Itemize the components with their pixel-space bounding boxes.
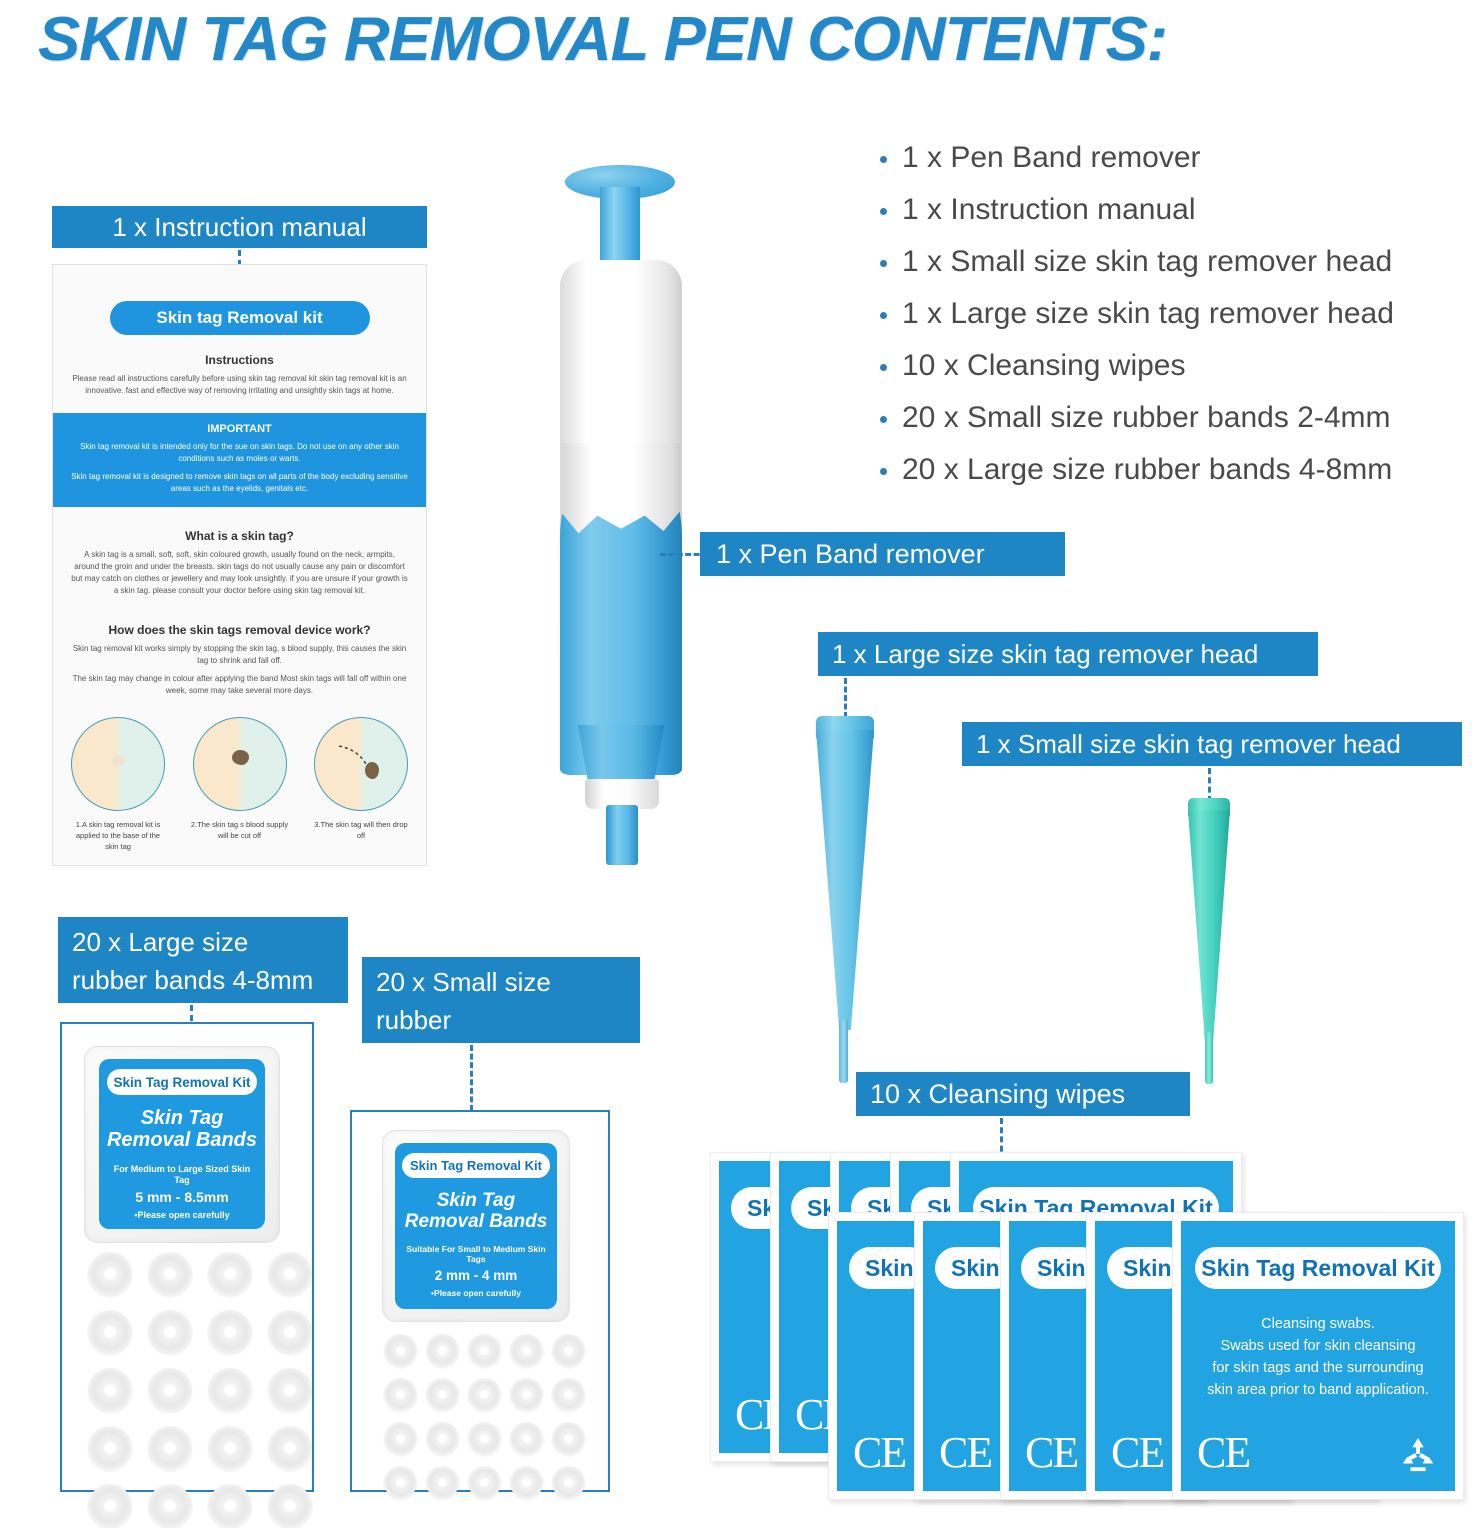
step-illustration-1 — [71, 717, 165, 811]
callout-pen-band-remover: 1 x Pen Band remover — [700, 532, 1065, 576]
rubber-band-ring — [148, 1426, 192, 1470]
large-bands-label-title: Skin Tag Removal Bands — [105, 1107, 259, 1152]
ce-mark-icon: CE — [853, 1431, 905, 1475]
manual-how-body-1: Skin tag removal kit works simply by sto… — [71, 643, 408, 667]
rubber-band-ring — [88, 1426, 132, 1470]
rubber-band-ring — [208, 1484, 252, 1528]
pen-taper — [576, 725, 666, 785]
instruction-manual-card: Skin tag Removal kit Instructions Please… — [52, 264, 427, 866]
callout-large-remover-head: 1 x Large size skin tag remover head — [818, 632, 1318, 676]
large-bands-case: Skin Tag Removal Kit Skin Tag Removal Ba… — [84, 1046, 280, 1243]
manual-instructions-body: Please read all instructions carefully b… — [71, 373, 408, 397]
list-item: 10 x Cleansing wipes — [876, 340, 1472, 392]
rubber-band-ring — [384, 1466, 417, 1499]
rubber-band-ring — [468, 1466, 501, 1499]
large-bands-label-size: 5 mm - 8.5mm — [105, 1189, 259, 1207]
rubber-band-ring — [148, 1484, 192, 1528]
rubber-band-ring — [208, 1310, 252, 1354]
manual-title-pill: Skin tag Removal kit — [110, 301, 370, 335]
rubber-band-ring — [88, 1368, 132, 1412]
recycle-icon — [1399, 1435, 1437, 1473]
rubber-band-ring — [426, 1466, 459, 1499]
step-illustration-2 — [193, 717, 287, 811]
large-bands-frame: Skin Tag Removal Kit Skin Tag Removal Ba… — [60, 1022, 314, 1492]
pen-nozzle — [606, 805, 638, 865]
large-bands-ring-grid — [88, 1252, 312, 1528]
large-bands-label: Skin Tag Removal Kit Skin Tag Removal Ba… — [99, 1059, 265, 1229]
manual-step-2: 2.The skin tag s blood supply will be cu… — [191, 717, 289, 852]
rubber-band-ring — [268, 1484, 312, 1528]
manual-step-3: 3.The skin tag will then drop off — [312, 717, 410, 852]
cleansing-wipe-face: Skin Tag Removal KitCleansing swabs. Swa… — [1181, 1221, 1455, 1491]
contents-list: 1 x Pen Band remover 1 x Instruction man… — [836, 132, 1472, 496]
rubber-band-ring — [384, 1334, 417, 1367]
manual-step-caption: 2.The skin tag s blood supply will be cu… — [191, 819, 289, 841]
manual-important-body-2: Skin tag removal kit is designed to remo… — [71, 471, 408, 495]
rubber-band-ring — [510, 1422, 543, 1455]
small-bands-label-title: Skin Tag Removal Bands — [400, 1190, 552, 1233]
manual-steps: 1.A skin tag removal kit is applied to t… — [69, 717, 410, 852]
rubber-band-ring — [468, 1378, 501, 1411]
large-bands-label-pill: Skin Tag Removal Kit — [107, 1069, 257, 1095]
rubber-band-ring — [510, 1334, 543, 1367]
rubber-band-ring — [552, 1422, 585, 1455]
small-bands-label: Skin Tag Removal Kit Skin Tag Removal Ba… — [395, 1143, 557, 1309]
list-item: 1 x Instruction manual — [876, 184, 1472, 236]
manual-step-caption: 1.A skin tag removal kit is applied to t… — [69, 819, 167, 852]
small-bands-frame: Skin Tag Removal Kit Skin Tag Removal Ba… — [350, 1110, 610, 1492]
rubber-band-ring — [148, 1368, 192, 1412]
rubber-band-ring — [268, 1310, 312, 1354]
list-item: 1 x Large size skin tag remover head — [876, 288, 1472, 340]
leader-line-small-head — [1208, 768, 1211, 802]
list-item: 1 x Pen Band remover — [876, 132, 1472, 184]
large-bands-label-note: •Please open carefully — [105, 1210, 259, 1221]
small-bands-label-sub: Suitable For Small to Medium Skin Tags — [400, 1244, 552, 1265]
rubber-band-ring — [148, 1310, 192, 1354]
rubber-band-ring — [384, 1378, 417, 1411]
cleansing-wipe-pill: Skin Tag Removal Kit — [1195, 1247, 1441, 1289]
pen-band-remover-image — [530, 165, 710, 865]
page-title: SKIN TAG REMOVAL PEN CONTENTS: — [38, 4, 1472, 74]
rubber-band-ring — [88, 1252, 132, 1296]
rubber-band-ring — [510, 1378, 543, 1411]
step-illustration-3 — [314, 717, 408, 811]
rubber-band-ring — [208, 1368, 252, 1412]
rubber-band-ring — [268, 1252, 312, 1296]
rubber-band-ring — [268, 1368, 312, 1412]
manual-important-heading: IMPORTANT — [67, 423, 412, 435]
rubber-band-ring — [426, 1334, 459, 1367]
rubber-band-ring — [384, 1422, 417, 1455]
rubber-band-ring — [552, 1334, 585, 1367]
rubber-band-ring — [148, 1252, 192, 1296]
infographic-canvas: SKIN TAG REMOVAL PEN CONTENTS: 1 x Pen B… — [0, 0, 1472, 1500]
leader-line-large-head — [844, 678, 847, 718]
rubber-band-ring — [552, 1378, 585, 1411]
small-bands-label-note: •Please open carefully — [400, 1288, 552, 1299]
manual-instructions-heading: Instructions — [53, 353, 426, 367]
manual-important-block: IMPORTANT Skin tag removal kit is intend… — [53, 413, 426, 507]
rubber-band-ring — [268, 1426, 312, 1470]
rubber-band-ring — [88, 1484, 132, 1528]
rubber-band-ring — [468, 1334, 501, 1367]
callout-instruction-manual: 1 x Instruction manual — [52, 206, 427, 248]
manual-step-caption: 3.The skin tag will then drop off — [312, 819, 410, 841]
rubber-band-ring — [426, 1378, 459, 1411]
cleansing-wipe: Skin Tag Removal KitCleansing swabs. Swa… — [1172, 1212, 1464, 1500]
cleansing-wipe-body-text: Cleansing swabs. Swabs used for skin cle… — [1191, 1313, 1445, 1401]
rubber-band-ring — [426, 1422, 459, 1455]
rubber-band-ring — [208, 1426, 252, 1470]
large-bands-label-sub: For Medium to Large Sized Skin Tag — [105, 1164, 259, 1187]
ce-mark-icon: CE — [1197, 1431, 1249, 1475]
rubber-band-ring — [468, 1422, 501, 1455]
ce-mark-icon: CE — [1111, 1431, 1163, 1475]
rubber-band-ring — [208, 1252, 252, 1296]
manual-what-body: A skin tag is a small, soft, soft, skin … — [71, 549, 408, 597]
list-item: 20 x Large size rubber bands 4-8mm — [876, 444, 1472, 496]
drop-off-arrow-icon — [315, 718, 407, 810]
callout-small-rubber-bands: 20 x Small size rubber bands 2-4mm — [362, 957, 640, 1043]
callout-cleansing-wipes: 10 x Cleansing wipes — [856, 1072, 1190, 1116]
leader-line-small-bands — [470, 1045, 473, 1111]
manual-step-1: 1.A skin tag removal kit is applied to t… — [69, 717, 167, 852]
list-item: 20 x Small size rubber bands 2-4mm — [876, 392, 1472, 444]
rubber-band-ring — [88, 1310, 132, 1354]
manual-important-body-1: Skin tag removal kit is intended only fo… — [71, 441, 408, 465]
small-bands-ring-grid — [384, 1334, 585, 1499]
small-bands-label-pill: Skin Tag Removal Kit — [402, 1153, 550, 1178]
rubber-band-ring — [552, 1466, 585, 1499]
small-bands-case: Skin Tag Removal Kit Skin Tag Removal Ba… — [382, 1130, 570, 1322]
manual-how-heading: How does the skin tags removal device wo… — [53, 623, 426, 637]
callout-large-rubber-bands: 20 x Large size rubber bands 4-8mm — [58, 917, 348, 1003]
list-item: 1 x Small size skin tag remover head — [876, 236, 1472, 288]
ce-mark-icon: CE — [939, 1431, 991, 1475]
small-bands-label-size: 2 mm - 4 mm — [400, 1268, 552, 1285]
ce-mark-icon: CE — [1025, 1431, 1077, 1475]
manual-how-body-2: The skin tag may change in colour after … — [71, 673, 408, 697]
rubber-band-ring — [510, 1466, 543, 1499]
manual-what-heading: What is a skin tag? — [53, 529, 426, 543]
callout-small-remover-head: 1 x Small size skin tag remover head — [962, 722, 1462, 766]
